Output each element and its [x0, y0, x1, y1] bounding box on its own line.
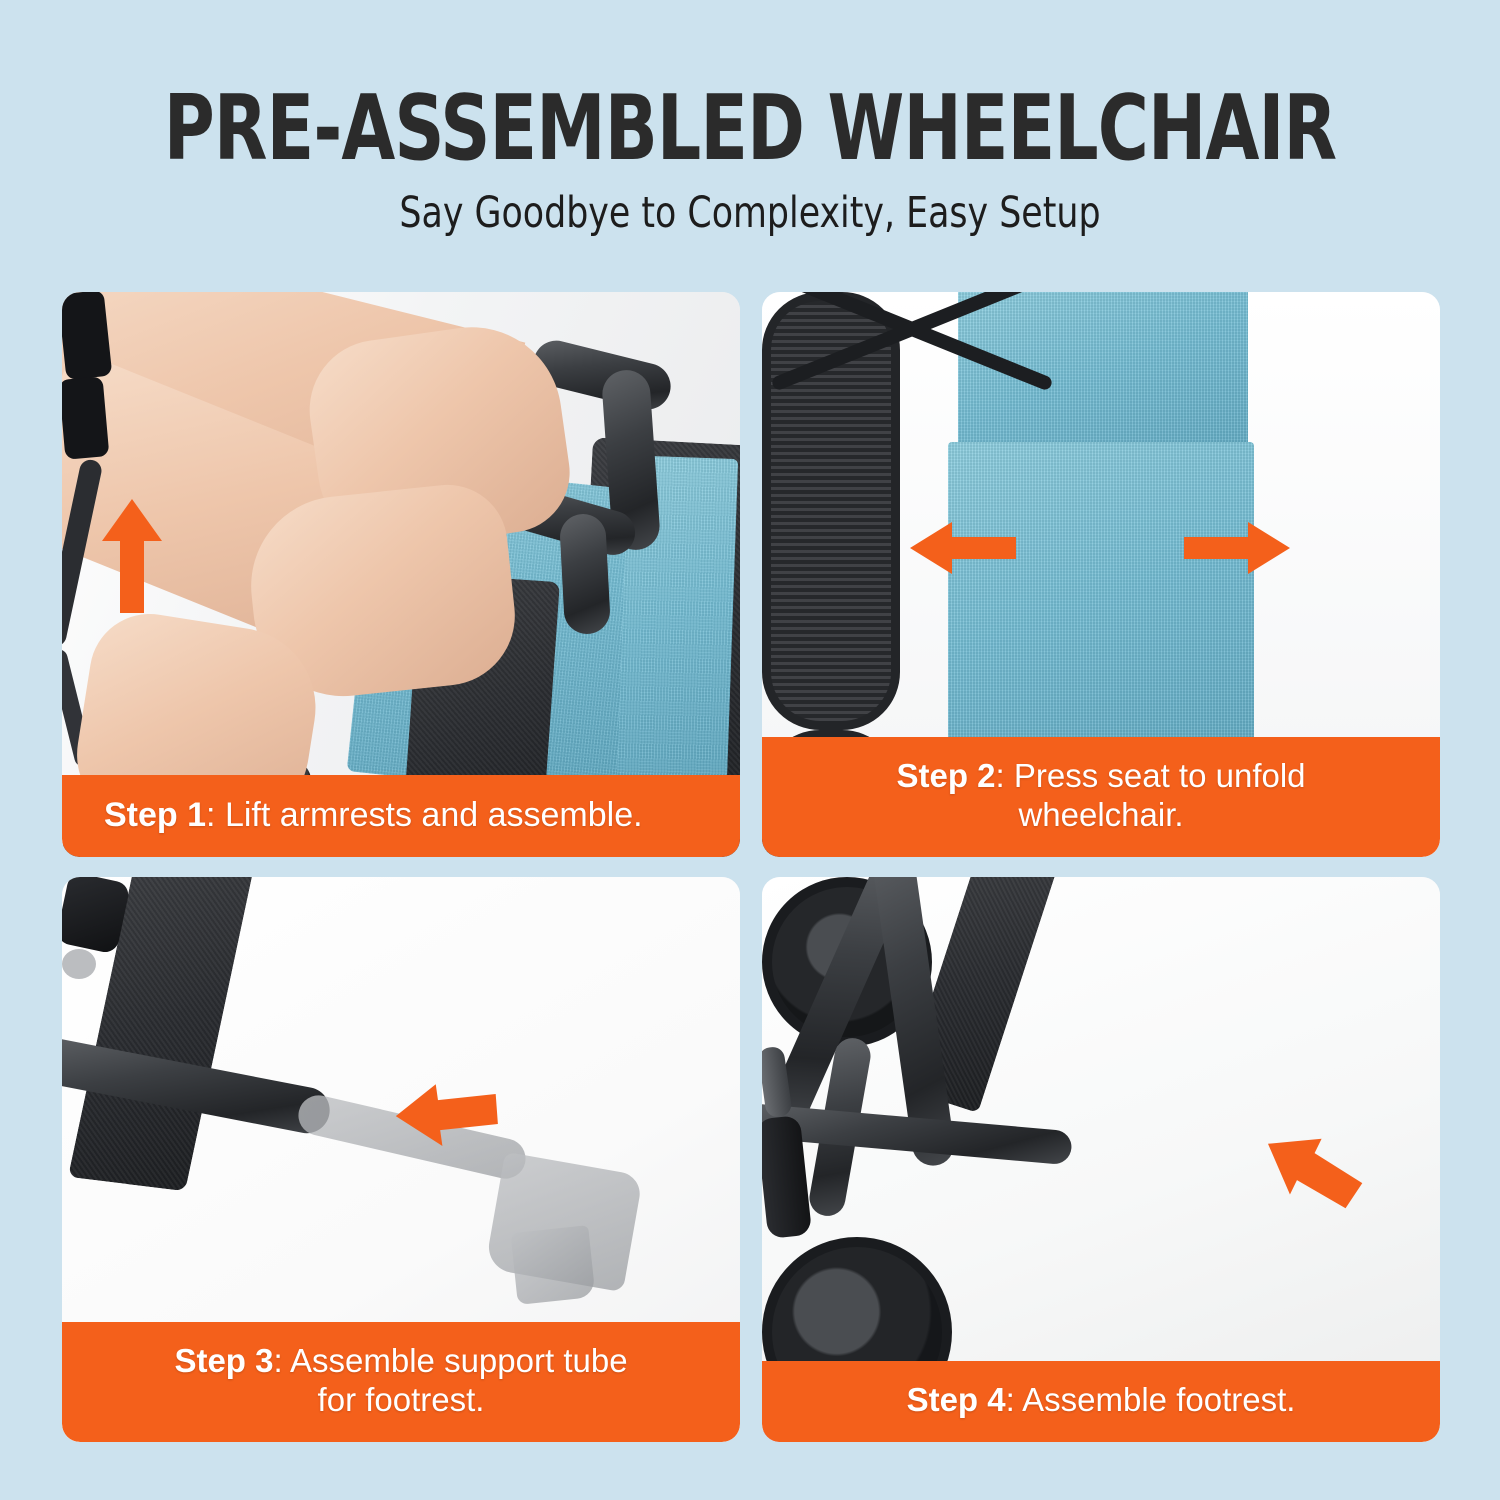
- step-1-photo: [62, 292, 740, 857]
- step-3-label: Step 3: [174, 1342, 273, 1379]
- up-arrow-icon: [100, 497, 164, 615]
- step-3-separator: :: [273, 1342, 282, 1379]
- step-2-text: Press seat to unfold: [1014, 757, 1306, 794]
- step-card-3[interactable]: Step 3: Assemble support tube for footre…: [62, 877, 740, 1442]
- step-4-separator: :: [1006, 1381, 1015, 1418]
- step-3-text: Assemble support tube: [290, 1342, 628, 1379]
- header: PRE-ASSEMBLED WHEELCHAIR Say Goodbye to …: [0, 0, 1500, 237]
- handle-post-lower: [559, 513, 611, 635]
- step-card-1[interactable]: Step 1: Lift armrests and assemble.: [62, 292, 740, 857]
- step-1-text: Lift armrests and assemble.: [225, 796, 643, 834]
- step-card-2[interactable]: Step 2: Step 2: Press seat to unfold Pre…: [762, 292, 1440, 857]
- diagonal-left-arrow-icon: [1254, 1133, 1364, 1219]
- step-2-caption: Step 2: Step 2: Press seat to unfold Pre…: [762, 737, 1440, 857]
- steps-grid: Step 1: Lift armrests and assemble.: [62, 292, 1440, 1442]
- handle-clamp-upper: [62, 292, 112, 380]
- footplate-ghost-lower: [510, 1225, 595, 1305]
- step-1-separator: :: [206, 796, 215, 834]
- locking-knob: [62, 949, 96, 979]
- step-1-label: Step 1: [104, 796, 206, 834]
- page-title: PRE-ASSEMBLED WHEELCHAIR: [105, 0, 1395, 172]
- step-2-label: Step 2: [896, 757, 995, 794]
- step-3-text-line-2: for footrest.: [80, 1381, 722, 1420]
- step-3-caption: Step 3: Assemble support tube for footre…: [62, 1322, 740, 1442]
- step-4-label: Step 4: [907, 1381, 1006, 1418]
- step-4-text: Assemble footrest.: [1022, 1381, 1295, 1418]
- left-arrow-icon: [392, 1079, 502, 1149]
- handle-clamp-lower: [62, 376, 109, 460]
- step-1-caption: Step 1: Lift armrests and assemble.: [62, 775, 740, 857]
- step-4-caption: Step 4: Assemble footrest.: [762, 1361, 1440, 1442]
- left-arrow-icon: [908, 520, 1018, 576]
- step-2-separator: :: [996, 757, 1005, 794]
- infographic-page: PRE-ASSEMBLED WHEELCHAIR Say Goodbye to …: [0, 0, 1500, 1500]
- page-subtitle: Say Goodbye to Complexity, Easy Setup: [75, 172, 1425, 237]
- step-2-text-line-2: wheelchair.: [780, 796, 1422, 835]
- step-card-4[interactable]: Step 4: Assemble footrest.: [762, 877, 1440, 1442]
- step-4-photo: [762, 877, 1440, 1442]
- right-arrow-icon: [1182, 520, 1292, 576]
